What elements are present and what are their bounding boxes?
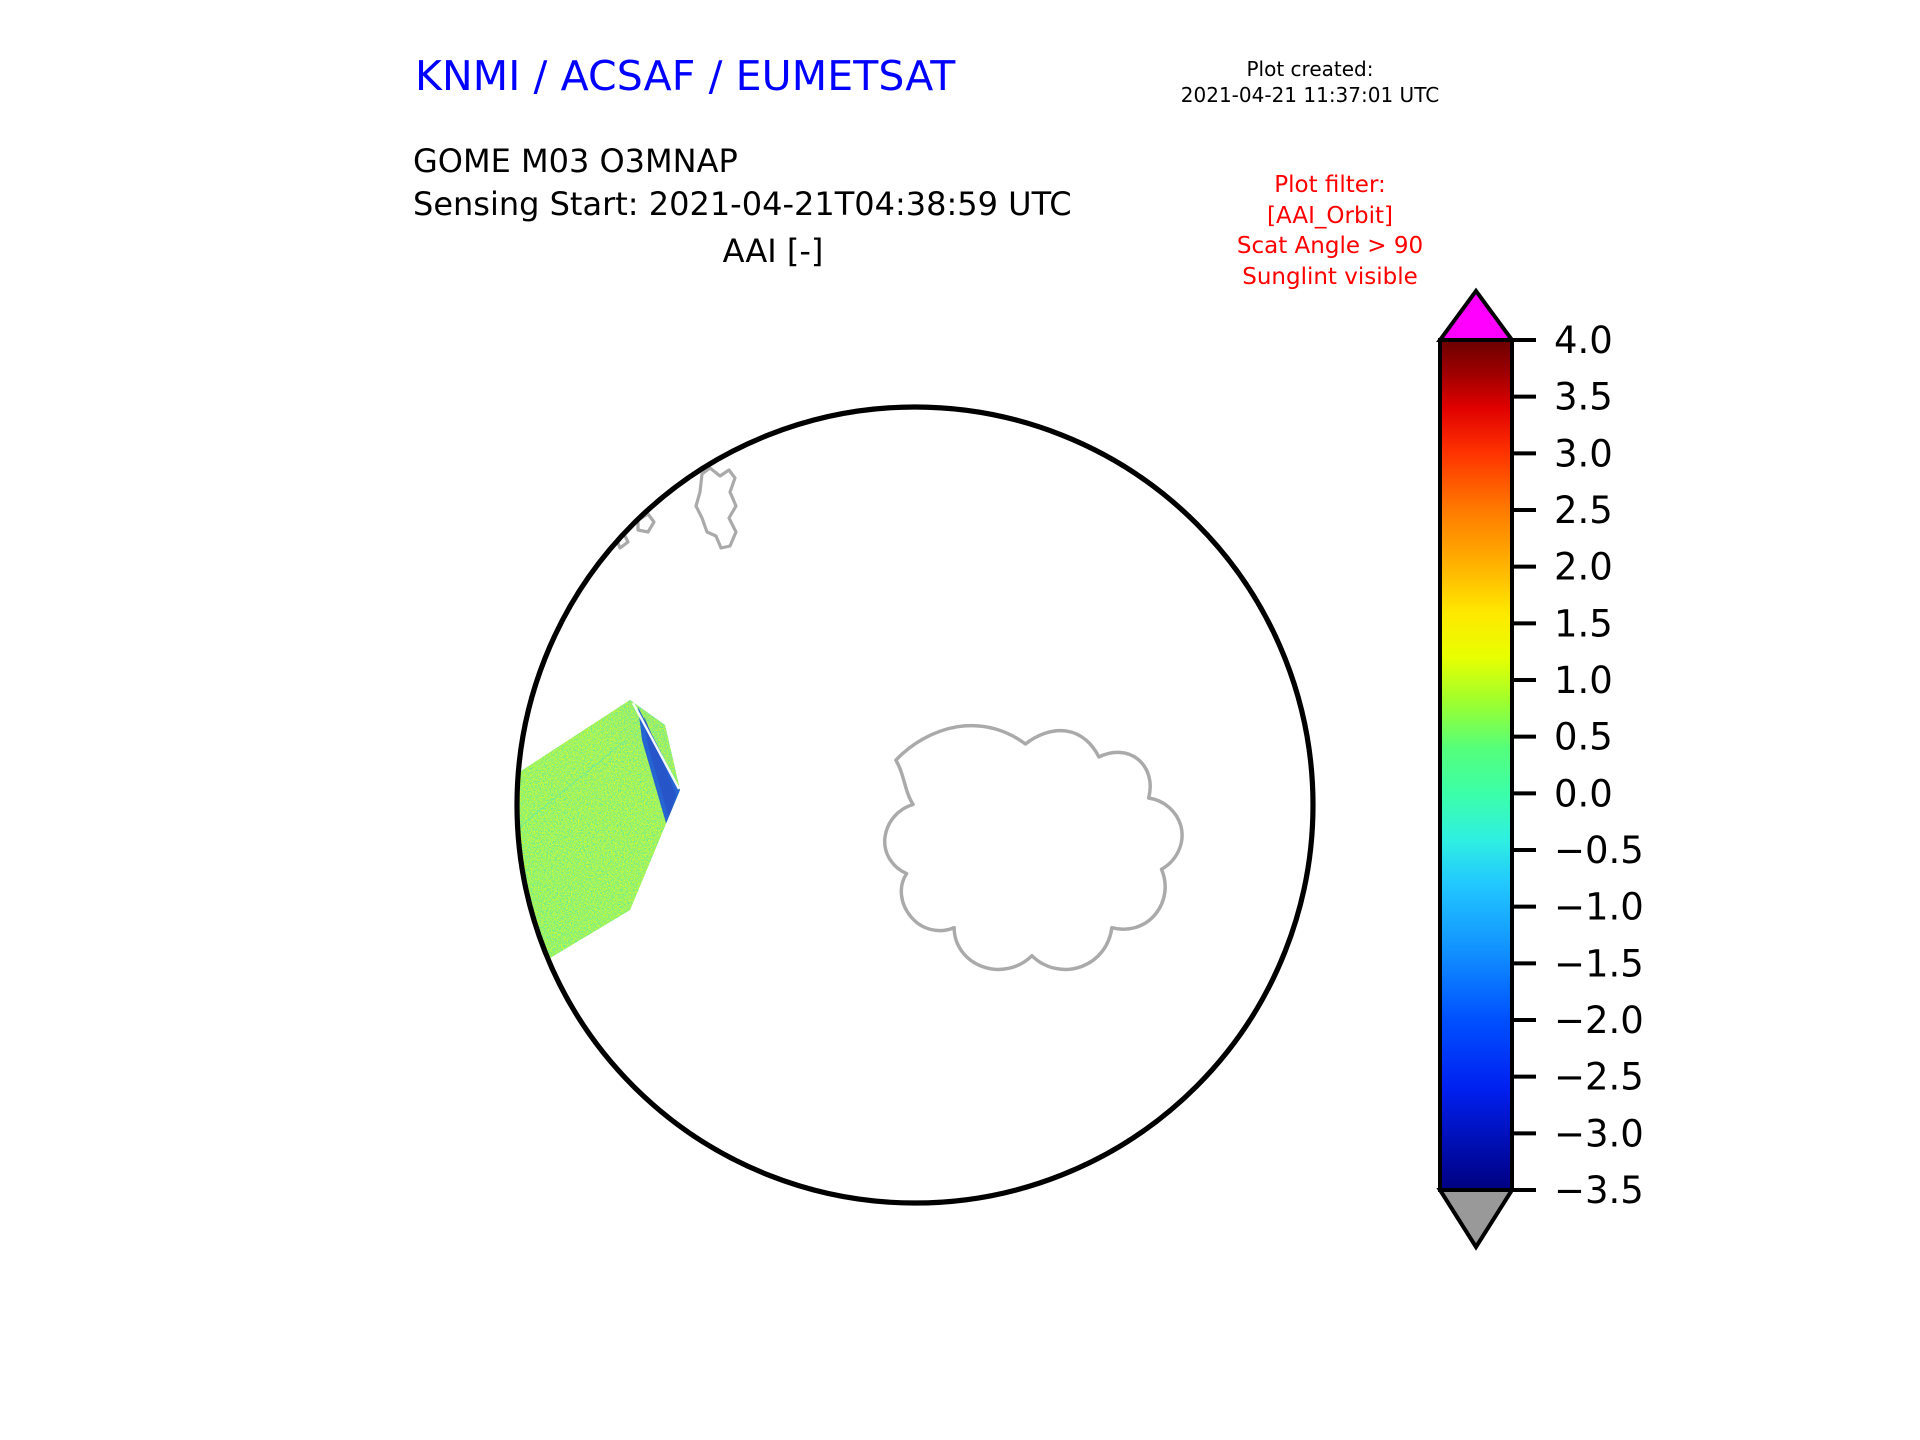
colorbar-under-arrow [1440, 1190, 1512, 1247]
colorbar-over-arrow [1440, 291, 1512, 340]
colorbar-tick-label: 2.0 [1554, 546, 1613, 589]
plot-created-label: Plot created: [1160, 56, 1460, 82]
colorbar-tick-label: −2.5 [1554, 1056, 1644, 1099]
colorbar-tick-label: −2.0 [1554, 999, 1644, 1042]
colorbar-tick-label: 2.5 [1554, 489, 1613, 532]
colorbar-gradient [1440, 340, 1512, 1190]
plot-filter-name: [AAI_Orbit] [1200, 201, 1460, 232]
plot-created-block: Plot created: 2021-04-21 11:37:01 UTC [1160, 56, 1460, 109]
plot-filter-label: Plot filter: [1200, 170, 1460, 201]
colorbar-panel: 4.03.53.02.52.01.51.00.50.0−0.5−1.0−1.5−… [1430, 285, 1850, 1295]
colorbar-ticks: 4.03.53.02.52.01.51.00.50.0−0.5−1.0−1.5−… [1512, 319, 1644, 1212]
colorbar-tick-label: 4.0 [1554, 319, 1613, 362]
product-info-block: GOME M03 O3MNAP Sensing Start: 2021-04-2… [413, 140, 1072, 225]
colorbar-tick-label: 1.5 [1554, 602, 1613, 645]
plot-created-timestamp: 2021-04-21 11:37:01 UTC [1160, 82, 1460, 108]
instrument-line: GOME M03 O3MNAP [413, 140, 1072, 183]
colorbar-tick-label: 3.0 [1554, 432, 1613, 475]
sensing-start-line: Sensing Start: 2021-04-21T04:38:59 UTC [413, 183, 1072, 226]
colorbar-tick-label: 1.0 [1554, 659, 1613, 702]
colorbar-tick-label: −1.5 [1554, 942, 1644, 985]
colorbar-tick-label: −3.5 [1554, 1169, 1644, 1212]
colorbar-tick-label: 0.0 [1554, 772, 1613, 815]
colorbar-tick-label: −0.5 [1554, 829, 1644, 872]
colorbar-tick-label: 0.5 [1554, 716, 1613, 759]
colorbar-tick-label: 3.5 [1554, 376, 1613, 419]
organisation-title: KNMI / ACSAF / EUMETSAT [415, 52, 955, 100]
plot-filter-condition: Scat Angle > 90 [1200, 231, 1460, 262]
map-panel [380, 270, 1450, 1340]
colorbar-tick-label: −1.0 [1554, 886, 1644, 929]
colorbar-tick-label: −3.0 [1554, 1112, 1644, 1155]
island-marker [456, 742, 468, 754]
variable-title: AAI [-] [413, 232, 1133, 270]
